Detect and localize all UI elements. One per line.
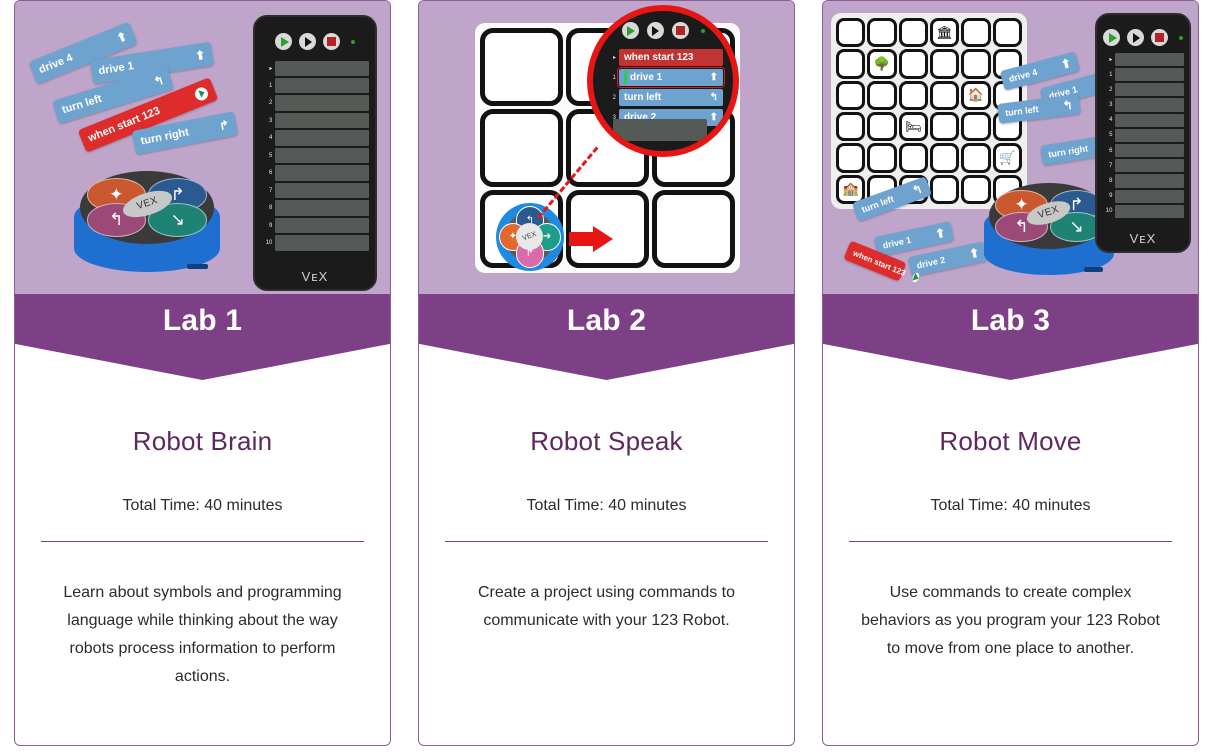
grocery-cart-icon: 🛒 <box>999 150 1015 166</box>
code-block-label: turn left <box>61 93 104 116</box>
active-step-indicator <box>624 71 627 84</box>
arrow-up-icon: ⬆ <box>710 112 718 123</box>
coder-slot[interactable]: 4 <box>1103 114 1184 127</box>
map-tile-grocery: 🛒 <box>993 143 1022 172</box>
stop-button[interactable] <box>1151 29 1168 46</box>
vex-123-coder: ▸ 1 2 3 4 5 6 7 8 9 10 VᴇX <box>253 15 377 291</box>
turn-right-icon: ↱ <box>218 118 231 134</box>
map-tile <box>930 175 959 204</box>
lab-description: Learn about symbols and programming lang… <box>39 579 366 691</box>
coder-slot[interactable]: 5 <box>263 148 369 163</box>
slot-bar <box>1115 205 1184 218</box>
total-time-label: Total Time: 40 minutes <box>443 497 770 515</box>
slot-number: 5 <box>1103 132 1112 138</box>
slot-bar <box>275 218 369 233</box>
slot-bar <box>275 95 369 110</box>
lab-3-banner: Lab 3 <box>823 294 1198 380</box>
stop-button[interactable] <box>323 33 340 50</box>
slot-number: ▸ <box>609 54 616 61</box>
slot-number: 3 <box>263 118 272 124</box>
coder-slot-list: ▸ 1 2 3 4 5 6 7 8 9 10 <box>263 61 369 251</box>
code-block-label: turn right <box>140 126 190 147</box>
arrow-up-icon: ⬆ <box>1059 56 1072 72</box>
slot-number: 2 <box>609 95 616 101</box>
coder-slot[interactable]: 9 <box>1103 190 1184 203</box>
program-row[interactable]: 2 turn left ↰ <box>609 89 723 106</box>
map-tile <box>993 18 1022 47</box>
map-tile <box>899 81 928 110</box>
map-tile <box>836 81 865 110</box>
slot-number: 1 <box>1103 72 1112 78</box>
vex-123-robot: ✦ ↱ ↰ ↘ VEX <box>71 169 223 279</box>
slot-bar <box>1115 144 1184 157</box>
slot-number: 8 <box>263 205 272 211</box>
vex-brand-logo: VᴇX <box>255 269 375 284</box>
slot-bar <box>1115 98 1184 111</box>
coder-slot[interactable]: 4 <box>263 130 369 145</box>
lab-title: Robot Speak <box>443 426 770 457</box>
field-tile <box>652 190 735 268</box>
turn-left-icon: ↰ <box>1062 98 1074 113</box>
slot-bar <box>1115 159 1184 172</box>
slot-bar <box>275 78 369 93</box>
slot-bar <box>275 61 369 76</box>
code-block-label: drive 4 <box>1008 67 1039 84</box>
map-tile <box>867 112 896 141</box>
map-tile-pool: 🛏 <box>899 112 928 141</box>
coder-slot[interactable]: 1 <box>1103 68 1184 81</box>
slot-number: 10 <box>1103 208 1112 214</box>
program-row[interactable]: ▸ when start 123 <box>609 49 723 66</box>
lab-title: Robot Move <box>847 426 1174 457</box>
map-tile <box>899 18 928 47</box>
coder-slot[interactable]: 2 <box>1103 83 1184 96</box>
step-button[interactable] <box>1127 29 1144 46</box>
lab-number-label: Lab 1 <box>163 304 242 338</box>
map-tile <box>930 143 959 172</box>
map-tile <box>930 112 959 141</box>
robot-port <box>187 264 208 270</box>
slot-bar <box>275 130 369 145</box>
slot-bar <box>1115 190 1184 203</box>
coder-slot[interactable]: ▸ <box>263 61 369 76</box>
lab-description: Use commands to create complex behaviors… <box>847 579 1174 663</box>
slot-number: 4 <box>1103 117 1112 123</box>
arrow-up-icon: ⬆ <box>710 72 718 83</box>
slot-number: ▸ <box>263 65 272 72</box>
program-block-label: drive 1 <box>630 72 710 83</box>
lab-2-body: Robot Speak Total Time: 40 minutes Creat… <box>419 380 794 745</box>
field-tile <box>480 28 563 106</box>
pool-water-icon: 🛏 <box>905 119 922 135</box>
map-tile <box>930 49 959 78</box>
status-led-icon <box>351 40 355 44</box>
slot-number: 9 <box>1103 193 1112 199</box>
coder-slot[interactable]: 6 <box>1103 144 1184 157</box>
bank-icon: 🏛 <box>936 25 953 41</box>
slot-bar <box>1115 53 1184 66</box>
arrow-up-icon: ⬆ <box>968 245 981 261</box>
play-button[interactable] <box>1103 29 1120 46</box>
arrow-up-icon: ⬆ <box>194 48 206 63</box>
slot-number: 7 <box>1103 163 1112 169</box>
map-tile <box>867 143 896 172</box>
coder-slot[interactable]: 10 <box>1103 205 1184 218</box>
map-tile <box>961 49 990 78</box>
lab-1-hero-image: drive 4 ⬆ drive 1 ⬆ turn left ↰ when sta… <box>15 1 390 294</box>
code-block-label: turn right <box>1048 143 1089 159</box>
coder-slot[interactable]: ▸ <box>1103 53 1184 66</box>
map-tile-park: 🌳 <box>867 49 896 78</box>
lab-card-grid: drive 4 ⬆ drive 1 ⬆ turn left ↰ when sta… <box>0 0 1218 754</box>
robot-button-wheel: ✦ ↱ ↰ ↘ VEX <box>989 183 1109 249</box>
robot-port <box>1084 267 1103 272</box>
section-divider <box>41 541 364 542</box>
coder-slot[interactable]: 1 <box>263 78 369 93</box>
slot-bar <box>1115 114 1184 127</box>
slot-bar <box>275 200 369 215</box>
stop-button[interactable] <box>672 22 689 39</box>
slot-number: 2 <box>263 100 272 106</box>
map-tile <box>867 18 896 47</box>
slot-number: 1 <box>609 75 616 81</box>
lab-title: Robot Brain <box>39 426 366 457</box>
coder-empty-slot <box>613 119 707 141</box>
code-block-label: drive 1 <box>882 235 912 251</box>
lab-3-hero-image: 🏛 🌳 🏠 🛏 <box>823 1 1198 294</box>
map-tile <box>899 49 928 78</box>
map-tile-bank: 🏛 <box>930 18 959 47</box>
coder-slot[interactable]: 3 <box>1103 98 1184 111</box>
slot-bar <box>1115 174 1184 187</box>
map-tile <box>961 143 990 172</box>
slot-number: 1 <box>263 83 272 89</box>
section-divider <box>849 541 1172 542</box>
code-block-label: drive 1 <box>98 60 135 77</box>
program-block[interactable]: when start 123 <box>619 49 723 66</box>
coder-slot[interactable]: 2 <box>263 95 369 110</box>
program-block[interactable]: turn left ↰ <box>619 89 723 106</box>
total-time-label: Total Time: 40 minutes <box>847 497 1174 515</box>
motion-arrow-icon <box>593 226 613 252</box>
status-led-icon <box>1179 36 1183 40</box>
slot-number: 3 <box>1103 102 1112 108</box>
slot-bar <box>1115 83 1184 96</box>
map-tile <box>836 49 865 78</box>
slot-number: 4 <box>263 135 272 141</box>
coder-button-row <box>593 22 733 39</box>
turn-left-icon: ↰ <box>710 92 718 103</box>
lab-card-2[interactable]: ↰ ✦ ➜ ↱ VEX ▸ <box>418 0 795 746</box>
coder-slot[interactable]: 7 <box>1103 159 1184 172</box>
slot-number: 6 <box>263 170 272 176</box>
lab-2-banner: Lab 2 <box>419 294 794 380</box>
park-trees-icon: 🌳 <box>874 56 890 72</box>
code-block-label: drive 4 <box>37 52 74 76</box>
code-block-label: when start 123 <box>852 248 907 277</box>
map-tile <box>836 143 865 172</box>
lab-3-body: Robot Move Total Time: 40 minutes Use co… <box>823 380 1198 745</box>
coder-slot[interactable]: 10 <box>263 235 369 250</box>
program-row[interactable]: 1 drive 1 ⬆ <box>609 69 723 86</box>
map-tile <box>899 143 928 172</box>
slot-number: 6 <box>1103 148 1112 154</box>
school-icon: 🏫 <box>843 181 859 197</box>
slot-bar <box>1115 68 1184 81</box>
lab-description: Create a project using commands to commu… <box>443 579 770 635</box>
lab-number-label: Lab 2 <box>567 304 646 338</box>
slot-number: 7 <box>263 188 272 194</box>
slot-number: 9 <box>263 223 272 229</box>
lab-card-1[interactable]: drive 4 ⬆ drive 1 ⬆ turn left ↰ when sta… <box>14 0 391 746</box>
coder-magnifier: ▸ when start 123 1 drive 1 ⬆ <box>587 5 739 157</box>
coder-slot[interactable]: 8 <box>263 200 369 215</box>
slot-number: ▸ <box>1103 56 1112 63</box>
lab-card-3[interactable]: 🏛 🌳 🏠 🛏 <box>822 0 1199 746</box>
map-tile <box>930 81 959 110</box>
robot-button-wheel: ✦ ↱ ↰ ↘ VEX <box>80 171 214 244</box>
vex-123-coder: ▸ 1 2 3 4 5 6 7 8 9 10 VᴇX <box>1095 13 1191 253</box>
slot-number: 8 <box>1103 178 1112 184</box>
lab-1-body: Robot Brain Total Time: 40 minutes Learn… <box>15 380 390 745</box>
coder-program-list: ▸ when start 123 1 drive 1 ⬆ <box>609 49 723 126</box>
motion-arrow-shaft <box>569 232 593 246</box>
arrow-up-icon: ⬆ <box>934 225 947 241</box>
coder-slot[interactable]: 9 <box>263 218 369 233</box>
map-tile <box>836 112 865 141</box>
map-tile <box>836 18 865 47</box>
slot-bar <box>275 183 369 198</box>
map-tile <box>867 81 896 110</box>
start-play-icon <box>193 85 210 102</box>
slot-number: 2 <box>1103 87 1112 93</box>
arrow-up-icon: ⬆ <box>115 29 130 46</box>
slot-bar <box>275 148 369 163</box>
coder-slot[interactable]: 6 <box>263 165 369 180</box>
map-tile-house: 🏠 <box>961 81 990 110</box>
slot-bar <box>275 113 369 128</box>
slot-number: 5 <box>263 153 272 159</box>
lab-number-label: Lab 3 <box>971 304 1050 338</box>
section-divider <box>445 541 768 542</box>
coder-button-row <box>255 33 375 50</box>
lab-1-banner: Lab 1 <box>15 294 390 380</box>
code-block-label: turn left <box>1005 104 1039 118</box>
field-tile <box>480 109 563 187</box>
vex-123-robot-on-field: ↰ ✦ ➜ ↱ VEX <box>496 203 564 271</box>
turn-left-icon: ↰ <box>910 181 924 198</box>
program-block-selected[interactable]: drive 1 ⬆ <box>619 69 723 86</box>
play-button[interactable] <box>275 33 292 50</box>
map-tile <box>961 18 990 47</box>
coder-slot[interactable]: 8 <box>1103 174 1184 187</box>
program-block-label: turn left <box>624 92 661 103</box>
step-button[interactable] <box>647 22 664 39</box>
slot-bar <box>275 235 369 250</box>
turn-left-icon: ↰ <box>152 73 166 89</box>
coder-button-row <box>1097 29 1189 46</box>
lab-2-hero-image: ↰ ✦ ➜ ↱ VEX ▸ <box>419 1 794 294</box>
coder-slot[interactable]: 7 <box>263 183 369 198</box>
play-button[interactable] <box>622 22 639 39</box>
slot-bar <box>1115 129 1184 142</box>
program-block-label: when start 123 <box>624 52 693 63</box>
vex-brand-logo: VᴇX <box>1097 231 1189 246</box>
coder-slot[interactable]: 3 <box>263 113 369 128</box>
coder-slot[interactable]: 5 <box>1103 129 1184 142</box>
coder-slot-list: ▸ 1 2 3 4 5 6 7 8 9 10 <box>1103 53 1184 218</box>
code-block-label: drive 2 <box>916 255 946 271</box>
map-tile <box>961 112 990 141</box>
slot-number: 10 <box>263 240 272 246</box>
status-led-icon <box>701 29 705 33</box>
house-icon: 🏠 <box>968 87 984 103</box>
code-block-label: turn left <box>860 194 895 215</box>
slot-bar <box>275 165 369 180</box>
step-button[interactable] <box>299 33 316 50</box>
total-time-label: Total Time: 40 minutes <box>39 497 366 515</box>
